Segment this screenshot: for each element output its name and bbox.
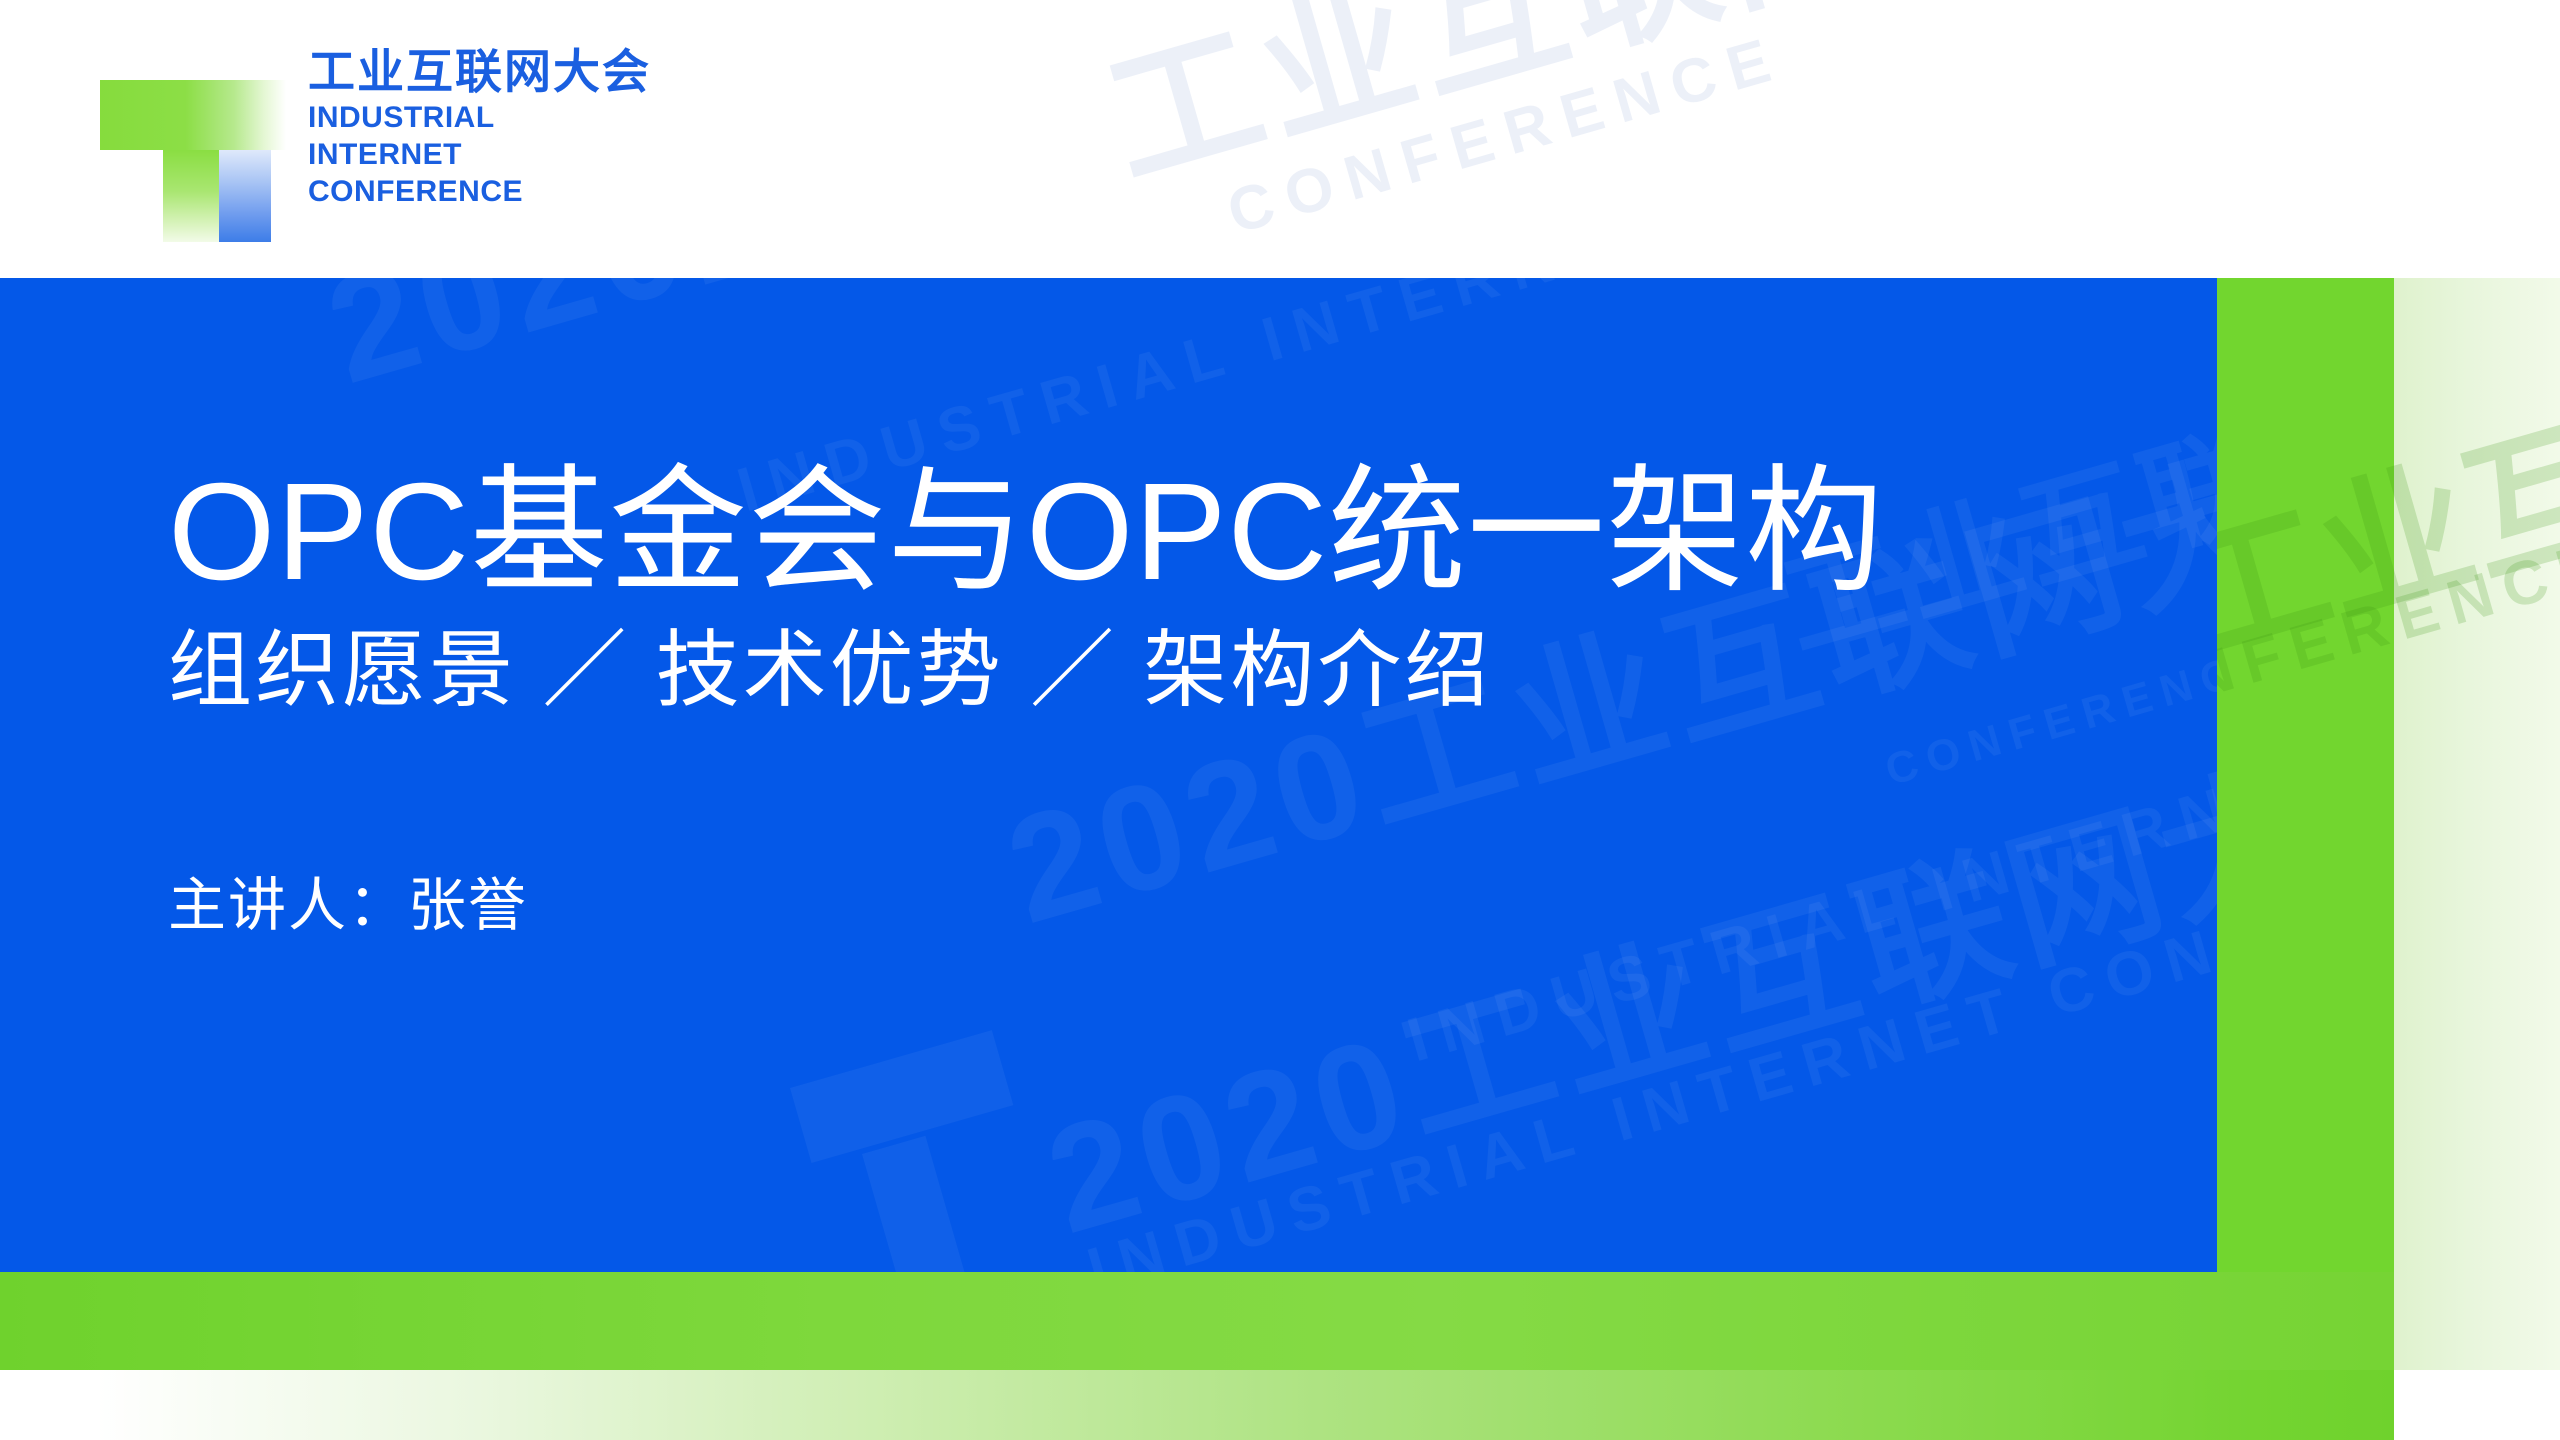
watermark-t-mark-icon (790, 1088, 1000, 1272)
t-mark-stem-blue (219, 150, 271, 242)
t-mark-crossbar (100, 80, 286, 150)
presentation-slide: 工业互联网大会 CONFERENCE 2020工业互联网大会 INDUSTRIA… (0, 0, 2560, 1440)
logo-english-line-3: CONFERENCE (308, 173, 651, 210)
conference-logo[interactable]: 工业互联网大会 INDUSTRIAL INTERNET CONFERENCE (100, 40, 651, 232)
bottom-gradient-strip (0, 1370, 2394, 1440)
watermark-header-en: CONFERENCE (1220, 22, 1791, 248)
slide-body: 工业互联网大会 CONFERENCE 2020工业互联网大会 INDUSTRIA… (0, 278, 2560, 1440)
right-green-column: 工业互联网大会 CONFERENCE (2217, 278, 2394, 1370)
slide-subtitle: 组织愿景 ／ 技术优势 ／ 架构介绍 (168, 621, 2068, 720)
logo-english-line-2: INTERNET (308, 136, 651, 173)
logo-chinese-name: 工业互联网大会 (308, 46, 651, 99)
conference-t-mark-icon (100, 40, 286, 232)
watermark-header-cn: 工业互联网大会 (1080, 0, 2203, 219)
conference-logo-text: 工业互联网大会 INDUSTRIAL INTERNET CONFERENCE (308, 40, 651, 210)
main-blue-panel: 2020工业互联网大会 INDUSTRIAL INTERNET CONFEREN… (0, 278, 2217, 1272)
t-mark-stem-green (163, 150, 219, 242)
logo-english-line-1: INDUSTRIAL (308, 99, 651, 136)
slide-header: 工业互联网大会 CONFERENCE 工业互联网大会 INDUSTRIAL IN… (0, 0, 2560, 278)
slide-title: OPC基金会与OPC统一架构 (168, 458, 2068, 607)
title-block: OPC基金会与OPC统一架构 组织愿景 ／ 技术优势 ／ 架构介绍 主讲人：张誉 (168, 278, 2068, 942)
slide-speaker: 主讲人：张誉 (168, 858, 2068, 942)
green-accent-bar (0, 1272, 2394, 1370)
right-pale-green-column (2394, 278, 2560, 1370)
